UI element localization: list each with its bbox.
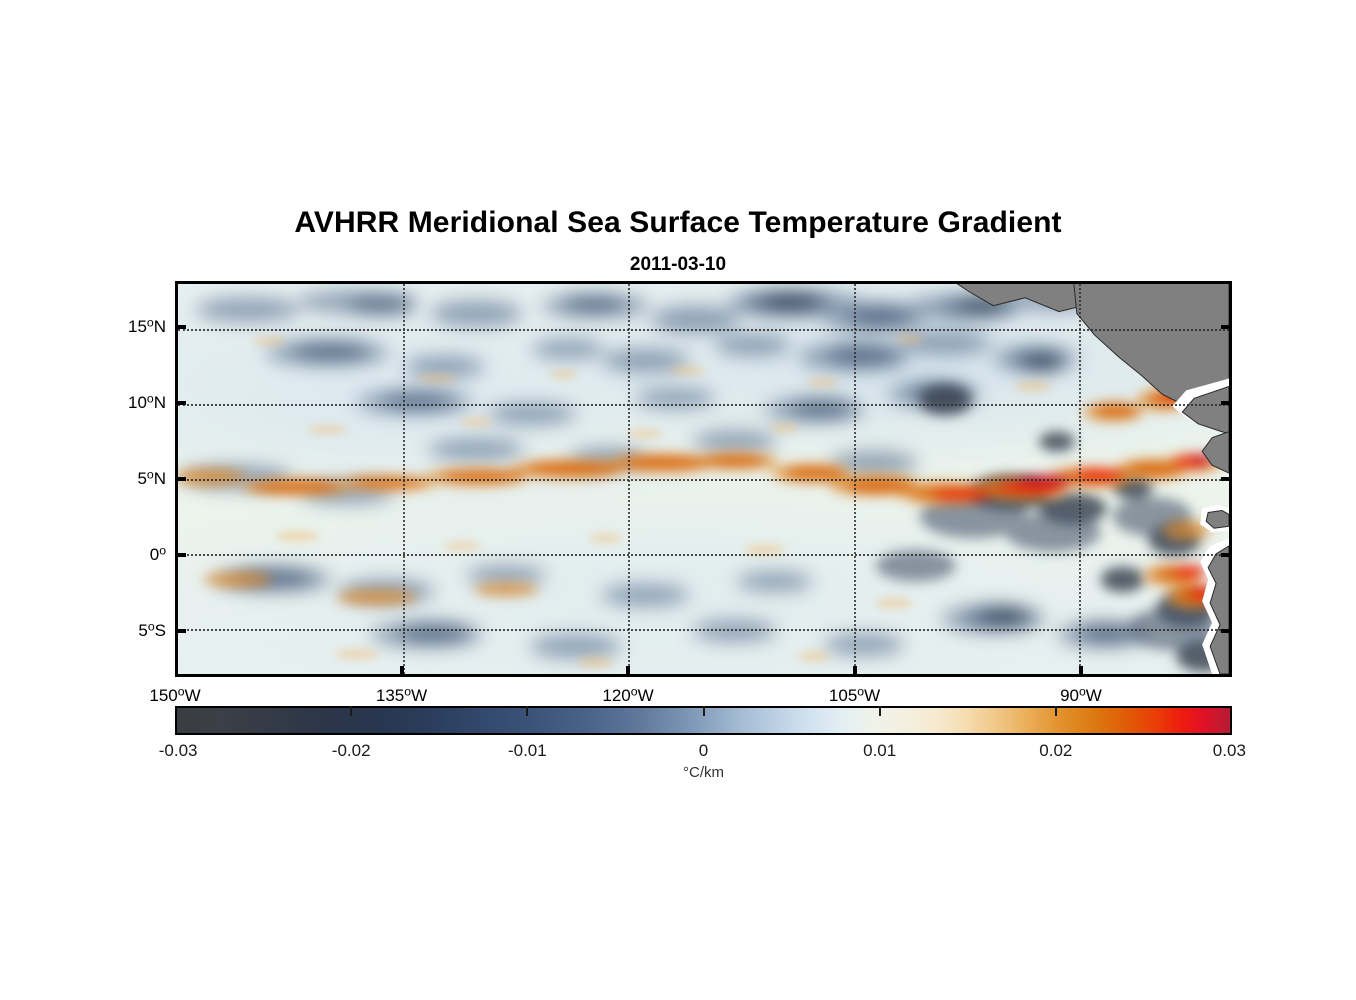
gridline-lon-90w [1079, 284, 1081, 674]
colorbar-label-0: -0.03 [159, 741, 198, 761]
figure-subtitle: 2011-03-10 [0, 254, 1356, 276]
x-tick-label-90w: 90oW [1060, 686, 1102, 706]
gridline-lon-120w [628, 284, 630, 674]
y-tick-label-5s: 5oS [138, 621, 166, 641]
x-tick-label-150w: 150oW [149, 686, 200, 706]
y-tick-label-15n: 15oN [128, 317, 166, 337]
colorbar-label-3: 0 [699, 741, 708, 761]
colorbar-label-4: 0.01 [863, 741, 896, 761]
colorbar: -0.03 -0.02 -0.01 0 0.01 0.02 0.03 °C/km [175, 706, 1232, 735]
map-frame [175, 281, 1232, 677]
map-plot-area: 15oN 10oN 5oN 0o 5oS 150oW 135oW 120oW 1… [175, 281, 1232, 677]
y-tick-label-10n: 10oN [128, 393, 166, 413]
gridline-lon-135w [403, 284, 405, 674]
x-tick-label-105w: 105oW [829, 686, 880, 706]
colorbar-label-5: 0.02 [1039, 741, 1072, 761]
gridline-lon-105w [854, 284, 856, 674]
gridline-lat-10n [178, 404, 1229, 406]
colorbar-label-6: 0.03 [1213, 741, 1246, 761]
gridline-lat-0 [178, 554, 1229, 556]
land-panama [1202, 432, 1229, 473]
colorbar-label-2: -0.01 [508, 741, 547, 761]
gridline-lat-5s [178, 629, 1229, 631]
colorbar-unit-label: °C/km [175, 764, 1232, 781]
colorbar-label-1: -0.02 [332, 741, 371, 761]
gridline-lat-5n [178, 479, 1229, 481]
x-tick-label-120w: 120oW [602, 686, 653, 706]
y-tick-label-0: 0o [150, 545, 166, 565]
y-tick-label-5n: 5oN [137, 469, 166, 489]
x-tick-label-135w: 135oW [376, 686, 427, 706]
figure-canvas: AVHRR Meridional Sea Surface Temperature… [0, 0, 1356, 1000]
gridline-lat-15n [178, 329, 1229, 331]
page-title: AVHRR Meridional Sea Surface Temperature… [0, 206, 1356, 240]
